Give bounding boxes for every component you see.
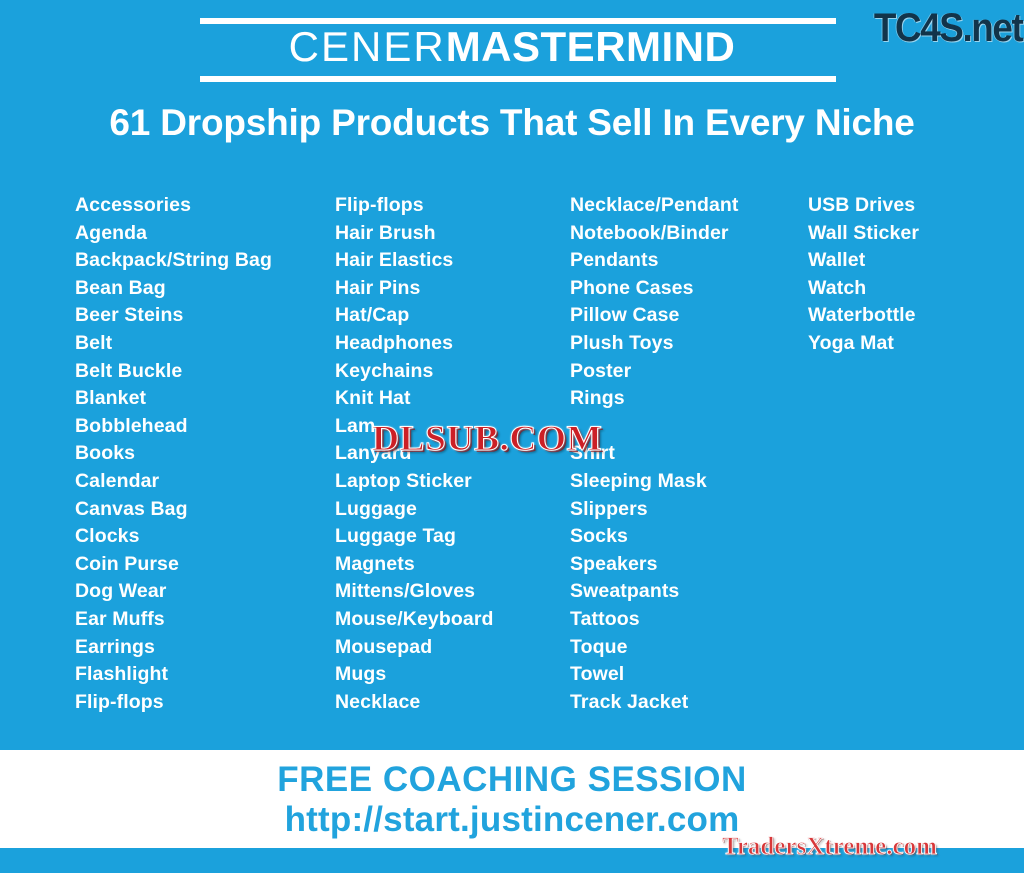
brand-logo-light: CENER <box>289 23 446 70</box>
product-column-4: USB Drives Wall Sticker Wallet Watch Wat… <box>808 192 1018 358</box>
list-item: Wallet <box>808 247 1018 275</box>
list-item: Slippers <box>570 496 805 524</box>
list-item: Flip-flops <box>335 192 565 220</box>
list-item: Beer Steins <box>75 302 330 330</box>
list-item: Pendants <box>570 247 805 275</box>
free-coaching-session-text: FREE COACHING SESSION <box>0 758 1024 802</box>
brand-logo: CENERMASTERMIND <box>0 21 1024 73</box>
product-column-3: Necklace/Pendant Notebook/Binder Pendant… <box>570 192 805 716</box>
list-item: Dog Wear <box>75 578 330 606</box>
list-item: Magnets <box>335 551 565 579</box>
infographic-poster: CENERMASTERMIND 61 Dropship Products Tha… <box>0 0 1024 873</box>
list-item: Plush Toys <box>570 330 805 358</box>
list-item: Laptop Sticker <box>335 468 565 496</box>
list-item: Flashlight <box>75 661 330 689</box>
poster-header: CENERMASTERMIND 61 Dropship Products Tha… <box>0 0 1024 160</box>
list-item: Headphones <box>335 330 565 358</box>
list-item: Mouse/Keyboard <box>335 606 565 634</box>
list-item: Lanyard <box>335 440 565 468</box>
list-item: Belt <box>75 330 330 358</box>
list-item: Blanket <box>75 385 330 413</box>
list-item: Toque <box>570 634 805 662</box>
poster-footer: FREE COACHING SESSION http://start.justi… <box>0 750 1024 848</box>
list-item: Coin Purse <box>75 551 330 579</box>
product-list: Accessories Agenda Backpack/String Bag B… <box>0 192 1024 737</box>
list-item: Speakers <box>570 551 805 579</box>
list-item: Mittens/Gloves <box>335 578 565 606</box>
list-item: Bobblehead <box>75 413 330 441</box>
list-item: Towel <box>570 661 805 689</box>
list-item: Bean Bag <box>75 275 330 303</box>
list-item: Luggage Tag <box>335 523 565 551</box>
list-item: Hat/Cap <box>335 302 565 330</box>
list-item: Sweatpants <box>570 578 805 606</box>
list-item: Poster <box>570 358 805 386</box>
list-item-occluded: Lam <box>335 413 565 441</box>
list-item: Backpack/String Bag <box>75 247 330 275</box>
list-item: Keychains <box>335 358 565 386</box>
list-item: Socks <box>570 523 805 551</box>
list-item: Pillow Case <box>570 302 805 330</box>
list-item-occluded <box>570 413 805 441</box>
list-item: Luggage <box>335 496 565 524</box>
list-item: Calendar <box>75 468 330 496</box>
list-item: Yoga Mat <box>808 330 1018 358</box>
list-item: Phone Cases <box>570 275 805 303</box>
list-item: Ear Muffs <box>75 606 330 634</box>
list-item: Agenda <box>75 220 330 248</box>
list-item: Hair Pins <box>335 275 565 303</box>
list-item: Books <box>75 440 330 468</box>
list-item: Mousepad <box>335 634 565 662</box>
list-item: Waterbottle <box>808 302 1018 330</box>
list-item: Knit Hat <box>335 385 565 413</box>
list-item: Mugs <box>335 661 565 689</box>
list-item: Sleeping Mask <box>570 468 805 496</box>
list-item: Watch <box>808 275 1018 303</box>
list-item: Canvas Bag <box>75 496 330 524</box>
list-item: Necklace/Pendant <box>570 192 805 220</box>
page-title: 61 Dropship Products That Sell In Every … <box>0 98 1024 148</box>
list-item: Necklace <box>335 689 565 717</box>
product-column-1: Accessories Agenda Backpack/String Bag B… <box>75 192 330 716</box>
list-item: Belt Buckle <box>75 358 330 386</box>
list-item: Hair Brush <box>335 220 565 248</box>
list-item: Rings <box>570 385 805 413</box>
coaching-url-link[interactable]: http://start.justincener.com <box>0 798 1024 842</box>
list-item: USB Drives <box>808 192 1018 220</box>
list-item: Accessories <box>75 192 330 220</box>
header-rule-bottom <box>200 76 836 82</box>
list-item: Wall Sticker <box>808 220 1018 248</box>
list-item: Clocks <box>75 523 330 551</box>
list-item: Earrings <box>75 634 330 662</box>
list-item: Track Jacket <box>570 689 805 717</box>
brand-logo-bold: MASTERMIND <box>446 23 736 70</box>
list-item: Tattoos <box>570 606 805 634</box>
list-item: Hair Elastics <box>335 247 565 275</box>
product-column-2: Flip-flops Hair Brush Hair Elastics Hair… <box>335 192 565 716</box>
list-item: Shirt <box>570 440 805 468</box>
list-item: Notebook/Binder <box>570 220 805 248</box>
list-item: Flip-flops <box>75 689 330 717</box>
